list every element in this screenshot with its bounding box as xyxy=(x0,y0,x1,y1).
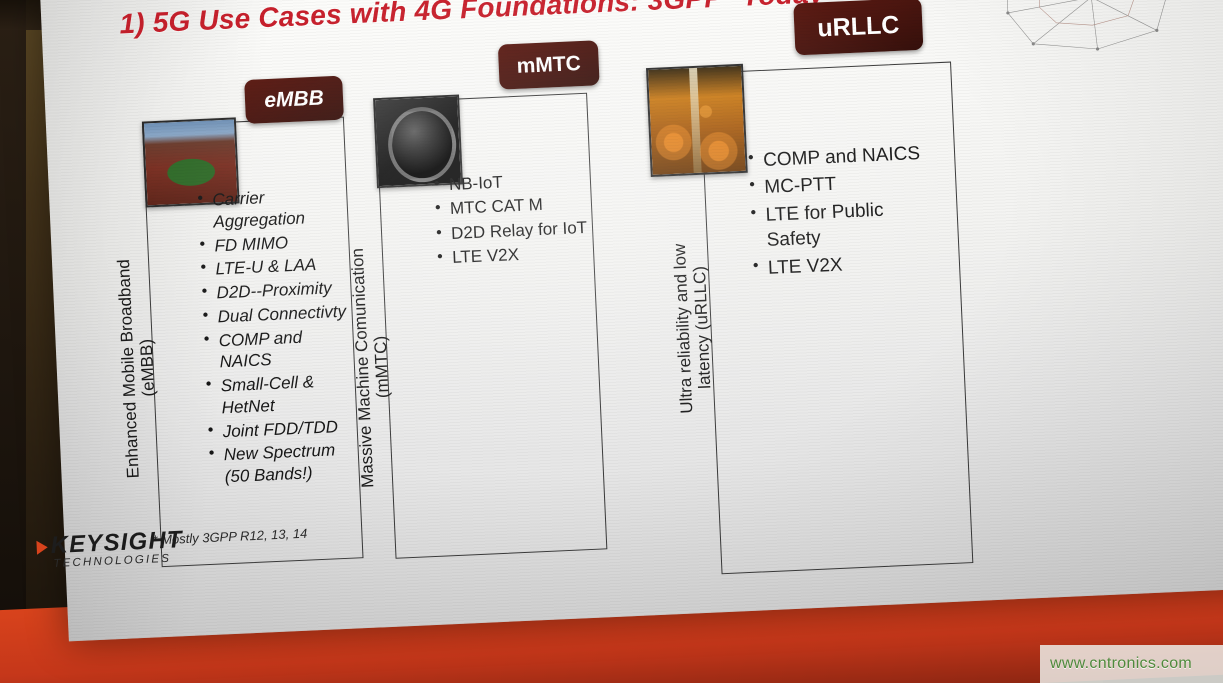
list-item: New Spectrum (50 Bands!) xyxy=(208,439,360,489)
page-title: 1) 5G Use Cases with 4G Foundations: 3GP… xyxy=(119,0,825,40)
list-item: LTE V2X xyxy=(752,248,938,282)
slide-content: 1) 5G Use Cases with 4G Foundations: 3GP… xyxy=(40,0,1223,641)
list-item: Small-Cell & HetNet xyxy=(205,369,357,419)
connected-vehicles-photo-icon xyxy=(646,64,748,177)
watermark: www.cntronics.com xyxy=(1050,655,1192,673)
bullet-list-mmtc: NB-IoTMTC CAT MD2D Relay for IoTLTE V2X xyxy=(434,168,598,273)
radar-diagram-icon xyxy=(969,0,1214,63)
bullet-list-embb: Carrier AggregationFD MIMOLTE-U & LAAD2D… xyxy=(197,184,360,491)
list-item: LTE for Public Safety xyxy=(750,195,937,254)
list-item: Carrier Aggregation xyxy=(197,184,349,234)
photo-of-projected-slide: 1) 5G Use Cases with 4G Foundations: 3GP… xyxy=(0,0,1223,683)
projection-screen: 1) 5G Use Cases with 4G Foundations: 3GP… xyxy=(40,0,1223,641)
room-left-dark-edge xyxy=(0,0,26,683)
list-item: LTE V2X xyxy=(437,241,598,271)
badge-mmtc[interactable]: mMTC xyxy=(498,40,600,89)
bullet-list-urllc: COMP and NAICSMC-PTTLTE for Public Safet… xyxy=(748,140,939,283)
badge-embb[interactable]: eMBB xyxy=(244,76,344,124)
list-item: COMP and NAICS xyxy=(203,324,355,374)
badge-urllc[interactable]: uRLLC xyxy=(793,0,923,55)
keysight-mark-icon xyxy=(36,540,48,554)
